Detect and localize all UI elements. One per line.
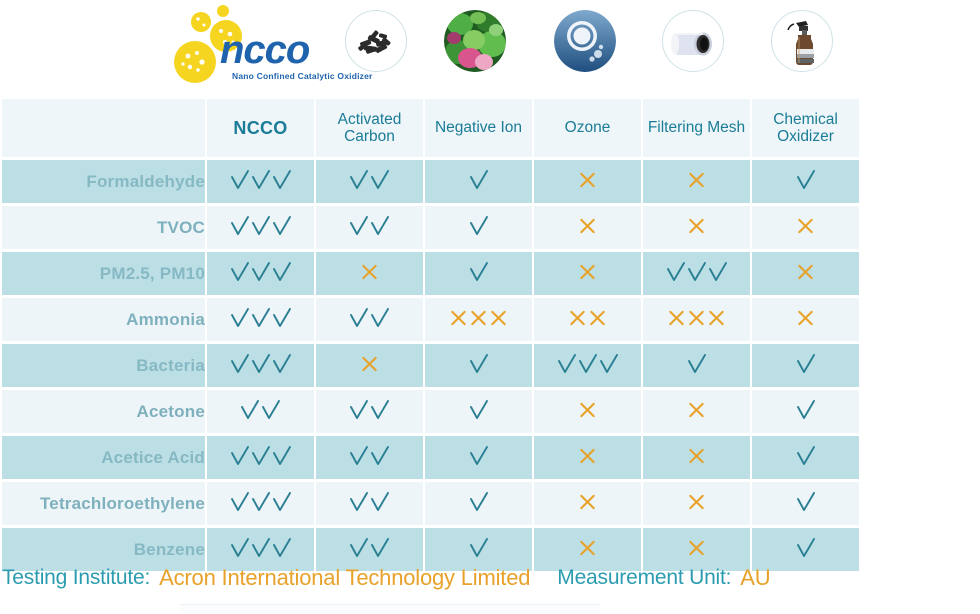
cell-2-2 — [316, 206, 423, 249]
cross-mark — [578, 216, 597, 240]
table-row: Acetice Acid — [2, 436, 859, 479]
tick-mark — [370, 399, 390, 425]
filtering-mesh-icon — [662, 10, 724, 72]
tick-mark — [370, 215, 390, 241]
mark-group — [316, 354, 423, 378]
cross-mark — [707, 308, 726, 332]
activated-carbon-icon — [345, 10, 407, 72]
table-row: Ammonia — [2, 298, 859, 341]
mark-group — [207, 261, 314, 287]
column-header-ncco: NCCO — [207, 99, 314, 157]
tick-mark — [687, 261, 707, 287]
cell-5-3 — [425, 344, 532, 387]
tick-mark — [230, 261, 250, 287]
cross-mark — [578, 170, 597, 194]
cell-4-1 — [207, 298, 314, 341]
mark-group — [207, 307, 314, 333]
mark-group — [752, 353, 859, 379]
table-body: FormaldehydeTVOCPM2.5, PM10AmmoniaBacter… — [2, 160, 859, 571]
tick-mark — [349, 491, 369, 517]
tick-mark — [240, 399, 260, 425]
logo-wordmark: ncco — [220, 30, 309, 70]
cell-1-4 — [534, 160, 641, 203]
cross-mark — [360, 354, 379, 378]
cell-3-4 — [534, 252, 641, 295]
mark-group — [643, 261, 750, 287]
technology-icon-strip: ncco Nano Confined Catalytic Oxidizer — [0, 0, 980, 95]
row-label-acetone: Acetone — [2, 390, 205, 433]
cell-7-5 — [643, 436, 750, 479]
ozone-icon — [554, 10, 616, 72]
tick-mark — [230, 445, 250, 471]
tick-mark — [230, 215, 250, 241]
table-row: PM2.5, PM10 — [2, 252, 859, 295]
mark-group — [207, 491, 314, 517]
tick-mark — [687, 353, 707, 379]
cell-5-1 — [207, 344, 314, 387]
corner-header — [2, 99, 205, 157]
column-header-activated-carbon: Activated Carbon — [316, 99, 423, 157]
testing-institute-label: Testing Institute: — [2, 566, 150, 590]
mark-group — [643, 308, 750, 332]
mark-group — [316, 262, 423, 286]
tick-mark — [251, 307, 271, 333]
measurement-unit-value: AU — [740, 565, 770, 591]
cell-8-1 — [207, 482, 314, 525]
bottom-divider — [180, 604, 600, 614]
row-label-tetrachloroethylene: Tetrachloroethylene — [2, 482, 205, 525]
cell-4-4 — [534, 298, 641, 341]
cell-3-2 — [316, 252, 423, 295]
cross-mark — [687, 492, 706, 516]
cell-6-6 — [752, 390, 859, 433]
column-header-negative-ion: Negative Ion — [425, 99, 532, 157]
cross-mark — [568, 308, 587, 332]
cross-mark — [687, 308, 706, 332]
mark-group — [316, 215, 423, 241]
tick-mark — [251, 261, 271, 287]
mark-group — [534, 446, 641, 470]
cell-8-2 — [316, 482, 423, 525]
mark-group — [643, 353, 750, 379]
cross-mark — [360, 262, 379, 286]
tick-mark — [557, 353, 577, 379]
cell-5-2 — [316, 344, 423, 387]
tick-mark — [796, 399, 816, 425]
mark-group — [425, 399, 532, 425]
mark-group — [207, 399, 314, 425]
tick-mark — [349, 215, 369, 241]
mark-group — [316, 307, 423, 333]
tick-mark — [251, 353, 271, 379]
cell-4-2 — [316, 298, 423, 341]
cross-mark — [578, 492, 597, 516]
cell-7-3 — [425, 436, 532, 479]
mark-group — [534, 262, 641, 286]
tick-mark — [469, 399, 489, 425]
mark-group — [643, 492, 750, 516]
mark-group — [534, 170, 641, 194]
cell-8-4 — [534, 482, 641, 525]
cross-mark — [796, 216, 815, 240]
tick-mark — [599, 353, 619, 379]
mark-group — [316, 445, 423, 471]
mark-group — [643, 446, 750, 470]
tick-mark — [796, 445, 816, 471]
mark-group — [425, 353, 532, 379]
mark-group — [643, 170, 750, 194]
cell-2-6 — [752, 206, 859, 249]
comparison-table: NCCO Activated Carbon Negative Ion Ozone… — [0, 96, 861, 574]
column-header-chemical-oxidizer: Chemical Oxidizer — [752, 99, 859, 157]
cell-5-5 — [643, 344, 750, 387]
tick-mark — [469, 261, 489, 287]
tick-mark — [230, 491, 250, 517]
tick-mark — [272, 169, 292, 195]
cell-7-2 — [316, 436, 423, 479]
cell-2-5 — [643, 206, 750, 249]
mark-group — [425, 308, 532, 332]
mark-group — [752, 399, 859, 425]
cross-mark — [469, 308, 488, 332]
mark-group — [316, 169, 423, 195]
mark-group — [207, 215, 314, 241]
mark-group — [752, 262, 859, 286]
column-header-ozone: Ozone — [534, 99, 641, 157]
cell-1-2 — [316, 160, 423, 203]
row-label-acetice-acid: Acetice Acid — [2, 436, 205, 479]
cell-1-3 — [425, 160, 532, 203]
cell-6-1 — [207, 390, 314, 433]
column-header-filtering-mesh: Filtering Mesh — [643, 99, 750, 157]
cell-3-6 — [752, 252, 859, 295]
cell-7-6 — [752, 436, 859, 479]
table-row: Formaldehyde — [2, 160, 859, 203]
cross-mark — [687, 170, 706, 194]
row-label-ammonia: Ammonia — [2, 298, 205, 341]
measurement-unit-label: Measurement Unit: — [557, 566, 731, 590]
table-header: NCCO Activated Carbon Negative Ion Ozone… — [2, 99, 859, 157]
mark-group — [752, 216, 859, 240]
cell-4-5 — [643, 298, 750, 341]
row-label-bacteria: Bacteria — [2, 344, 205, 387]
cell-2-4 — [534, 206, 641, 249]
cross-mark — [796, 262, 815, 286]
cell-3-1 — [207, 252, 314, 295]
mark-group — [425, 169, 532, 195]
cell-1-5 — [643, 160, 750, 203]
cross-mark — [687, 216, 706, 240]
tick-mark — [370, 307, 390, 333]
tick-mark — [272, 353, 292, 379]
cell-8-6 — [752, 482, 859, 525]
tick-mark — [349, 399, 369, 425]
tick-mark — [370, 491, 390, 517]
mark-group — [425, 261, 532, 287]
footer: Testing Institute: Acron International T… — [0, 556, 980, 600]
cross-mark — [578, 400, 597, 424]
cross-mark — [578, 262, 597, 286]
tick-mark — [578, 353, 598, 379]
tick-mark — [370, 169, 390, 195]
cell-8-3 — [425, 482, 532, 525]
tick-mark — [272, 215, 292, 241]
mark-group — [207, 169, 314, 195]
tick-mark — [251, 491, 271, 517]
cell-6-2 — [316, 390, 423, 433]
cell-4-3 — [425, 298, 532, 341]
cell-6-4 — [534, 390, 641, 433]
tick-mark — [349, 169, 369, 195]
mark-group — [534, 400, 641, 424]
testing-institute-value: Acron International Technology Limited — [159, 565, 530, 591]
mark-group — [425, 445, 532, 471]
row-label-formaldehyde: Formaldehyde — [2, 160, 205, 203]
cell-4-6 — [752, 298, 859, 341]
cell-7-4 — [534, 436, 641, 479]
cross-mark — [588, 308, 607, 332]
cell-3-5 — [643, 252, 750, 295]
cross-mark — [796, 308, 815, 332]
tick-mark — [370, 445, 390, 471]
mark-group — [534, 492, 641, 516]
tick-mark — [230, 169, 250, 195]
tick-mark — [251, 169, 271, 195]
tick-mark — [230, 353, 250, 379]
table-row: Bacteria — [2, 344, 859, 387]
tick-mark — [708, 261, 728, 287]
negative-ion-icon — [444, 10, 506, 72]
mark-group — [752, 169, 859, 195]
table-row: Acetone — [2, 390, 859, 433]
cross-mark — [449, 308, 468, 332]
tick-mark — [230, 307, 250, 333]
mark-group — [752, 445, 859, 471]
cell-5-6 — [752, 344, 859, 387]
tick-mark — [272, 261, 292, 287]
cell-8-5 — [643, 482, 750, 525]
header-row: NCCO Activated Carbon Negative Ion Ozone… — [2, 99, 859, 157]
mark-group — [207, 445, 314, 471]
mark-group — [425, 491, 532, 517]
tick-mark — [272, 445, 292, 471]
table-row: Tetrachloroethylene — [2, 482, 859, 525]
tick-mark — [349, 307, 369, 333]
mark-group — [316, 399, 423, 425]
ncco-logo: ncco Nano Confined Catalytic Oxidizer — [168, 4, 348, 90]
tick-mark — [469, 215, 489, 241]
mark-group — [534, 216, 641, 240]
chemical-oxidizer-icon — [771, 10, 833, 72]
tick-mark — [272, 491, 292, 517]
cell-2-1 — [207, 206, 314, 249]
tick-mark — [666, 261, 686, 287]
row-label-tvoc: TVOC — [2, 206, 205, 249]
mark-group — [534, 308, 641, 332]
tick-mark — [796, 491, 816, 517]
cell-1-6 — [752, 160, 859, 203]
cell-1-1 — [207, 160, 314, 203]
cell-6-5 — [643, 390, 750, 433]
cell-7-1 — [207, 436, 314, 479]
mark-group — [752, 491, 859, 517]
cell-5-4 — [534, 344, 641, 387]
tick-mark — [261, 399, 281, 425]
comparison-table-page: ncco Nano Confined Catalytic Oxidizer — [0, 0, 980, 614]
tick-mark — [349, 445, 369, 471]
table-row: TVOC — [2, 206, 859, 249]
cross-mark — [687, 446, 706, 470]
row-label-pm2-5-pm10: PM2.5, PM10 — [2, 252, 205, 295]
cell-2-3 — [425, 206, 532, 249]
mark-group — [207, 353, 314, 379]
tick-mark — [251, 215, 271, 241]
cross-mark — [667, 308, 686, 332]
tick-mark — [272, 307, 292, 333]
cross-mark — [489, 308, 508, 332]
tick-mark — [469, 491, 489, 517]
tick-mark — [251, 445, 271, 471]
mark-group — [643, 400, 750, 424]
mark-group — [316, 491, 423, 517]
cell-3-3 — [425, 252, 532, 295]
cross-mark — [578, 446, 597, 470]
mark-group — [752, 308, 859, 332]
tick-mark — [796, 353, 816, 379]
cell-6-3 — [425, 390, 532, 433]
logo-tagline: Nano Confined Catalytic Oxidizer — [232, 71, 373, 81]
tick-mark — [469, 169, 489, 195]
tick-mark — [469, 445, 489, 471]
mark-group — [534, 353, 641, 379]
comparison-table-wrap: NCCO Activated Carbon Negative Ion Ozone… — [0, 96, 855, 574]
cross-mark — [687, 400, 706, 424]
tick-mark — [796, 169, 816, 195]
mark-group — [643, 216, 750, 240]
tick-mark — [469, 353, 489, 379]
mark-group — [425, 215, 532, 241]
